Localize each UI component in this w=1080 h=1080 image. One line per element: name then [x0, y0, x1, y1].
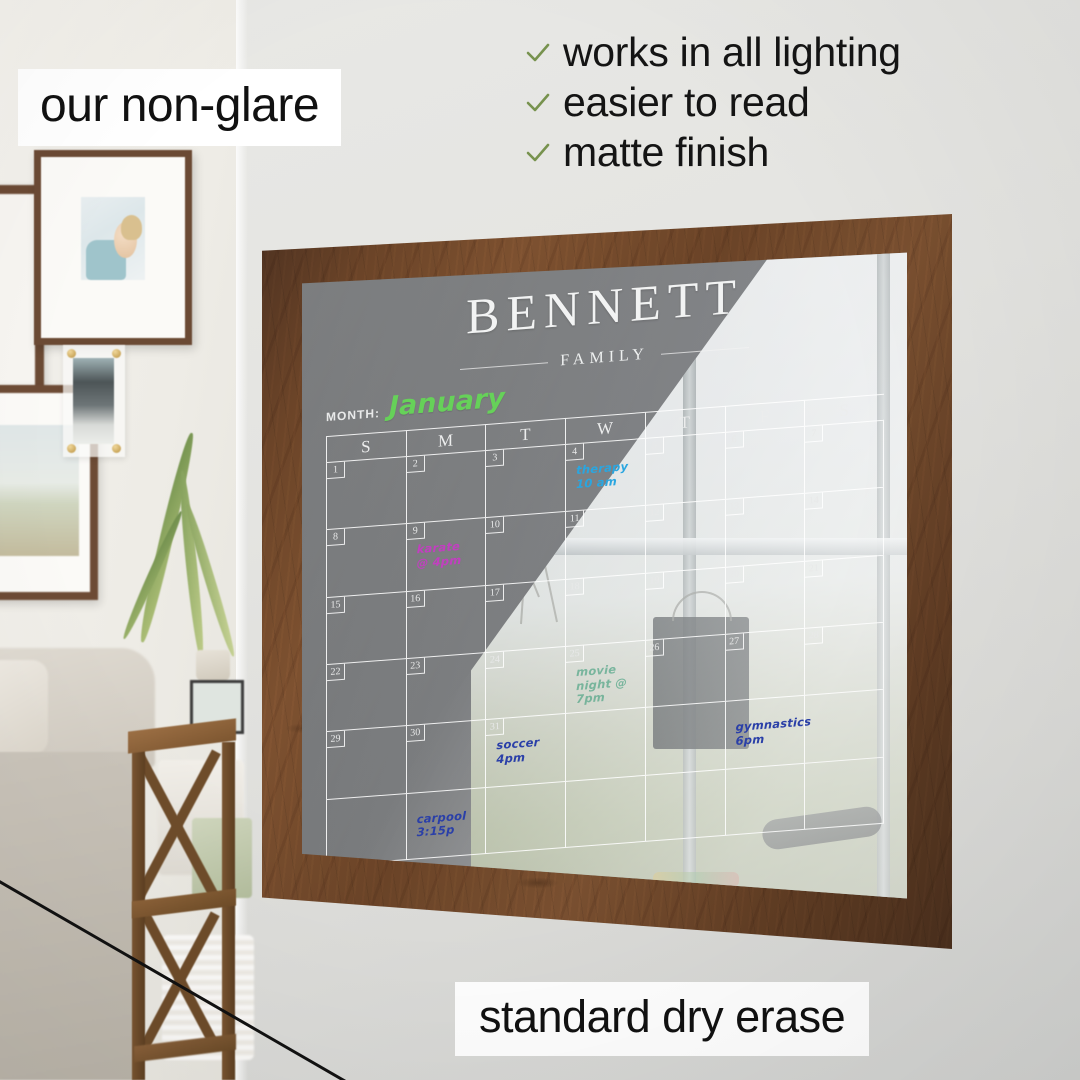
month-field-row: MONTH: January	[326, 387, 505, 425]
calendar-event-handwriting: carpool 3:15p	[417, 808, 482, 840]
board-printed-content: BENNETT FAMILY MONTH: January SMTWTFS123…	[302, 250, 907, 905]
calendar-date-number: 28	[805, 627, 823, 644]
calendar-day-cell[interactable]: 24	[485, 646, 565, 719]
calendar-date-number: 21	[805, 560, 823, 577]
family-subtitle: FAMILY	[560, 346, 649, 371]
calendar-date-number: 15	[327, 596, 345, 613]
calendar-day-cell[interactable]: 29	[326, 725, 406, 798]
calendar-day-cell[interactable]	[725, 762, 805, 835]
calendar-day-cell[interactable]: 27	[725, 628, 805, 701]
check-icon	[525, 140, 551, 166]
checklist-item-label: easier to read	[563, 80, 810, 126]
calendar-day-cell[interactable]: 31soccer 4pm	[485, 713, 565, 786]
calendar-day-cell[interactable]: 13	[725, 493, 805, 566]
month-value-handwriting: January	[389, 387, 505, 420]
check-icon	[525, 40, 551, 66]
calendar-day-cell[interactable]: 23	[406, 652, 486, 725]
calendar-date-number: 25	[566, 646, 584, 663]
calendar-day-cell[interactable]	[565, 775, 645, 848]
calendar-day-cell[interactable]: 8	[326, 523, 406, 596]
board-writing-surface: BENNETT FAMILY MONTH: January SMTWTFS123…	[302, 250, 907, 905]
calendar-day-cell[interactable]	[804, 689, 884, 762]
product-marketing-image: BENNETT FAMILY MONTH: January SMTWTFS123…	[0, 0, 1080, 1080]
feature-checklist: works in all lightingeasier to readmatte…	[525, 30, 1070, 180]
calendar-day-cell[interactable]: 14	[804, 487, 884, 560]
checklist-item: easier to read	[525, 80, 1070, 126]
calendar-day-cell[interactable]: 25movie night @ 7pm	[565, 640, 645, 713]
standard-dry-erase-banner-label: standard dry erase	[479, 991, 845, 1043]
non-glare-banner: our non-glare	[18, 69, 341, 146]
calendar-date-number: 7	[805, 425, 823, 442]
calendar-date-number: 2	[407, 456, 425, 473]
calendar-date-number: 3	[486, 450, 504, 467]
calendar-date-number: 17	[486, 584, 504, 601]
calendar-day-cell[interactable]: carpool 3:15p	[406, 787, 486, 860]
calendar-date-number: 14	[805, 493, 823, 510]
divider-line-right	[661, 347, 749, 355]
calendar-date-number: 12	[646, 505, 664, 522]
calendar-date-number: 6	[726, 431, 744, 448]
calendar-event-handwriting: therapy 10 am	[576, 459, 641, 491]
calendar-date-number: 30	[407, 725, 425, 742]
calendar-day-cell[interactable]: 15	[326, 591, 406, 664]
calendar-day-cell[interactable]: 2	[406, 450, 486, 523]
calendar-date-number: 11	[566, 511, 584, 528]
calendar-day-cell[interactable]	[645, 701, 725, 774]
calendar-date-number: 9	[407, 523, 425, 540]
checklist-item: matte finish	[525, 130, 1070, 176]
calendar-day-cell[interactable]: 10	[485, 511, 565, 584]
calendar-date-number: 18	[566, 578, 584, 595]
calendar-date-number: 5	[646, 437, 664, 454]
calendar-day-cell[interactable]: 16	[406, 585, 486, 658]
calendar-day-cell[interactable]	[485, 781, 565, 854]
calendar-day-cell[interactable]: 20	[725, 560, 805, 633]
calendar-event-handwriting: movie night @ 7pm	[576, 661, 641, 707]
calendar-day-cell[interactable]: 22	[326, 658, 406, 731]
calendar-event-handwriting: gymnastics 6pm	[736, 716, 801, 748]
calendar-day-cell[interactable]: 5	[645, 432, 725, 505]
calendar-day-cell[interactable]: 21	[804, 554, 884, 627]
divider-line-left	[460, 362, 548, 370]
checklist-item: works in all lighting	[525, 30, 1070, 76]
calendar-day-cell[interactable]: 4therapy 10 am	[565, 438, 645, 511]
calendar-date-number: 20	[726, 566, 744, 583]
calendar-date-number: 22	[327, 664, 345, 681]
calendar-date-number: 23	[407, 658, 425, 675]
calendar-day-cell[interactable]: 19	[645, 567, 725, 640]
calendar-date-number: 16	[407, 590, 425, 607]
calendar-day-cell[interactable]: 9karate @ 4pm	[406, 517, 486, 590]
calendar-day-cell[interactable]: 26	[645, 634, 725, 707]
calendar-date-number: 4	[566, 444, 584, 461]
calendar-day-cell[interactable]: 1	[326, 456, 406, 529]
calendar-event-handwriting: soccer 4pm	[496, 735, 561, 767]
calendar-day-cell[interactable]: 28	[804, 622, 884, 695]
calendar-day-cell[interactable]	[804, 756, 884, 829]
calendar-day-cell[interactable]: 18	[565, 573, 645, 646]
calendar-day-cell[interactable]	[326, 793, 406, 866]
calendar-date-number: 1	[327, 462, 345, 479]
calendar-day-cell[interactable]: 6	[725, 426, 805, 499]
calendar-day-cell[interactable]: 12	[645, 499, 725, 572]
calendar-day-cell[interactable]: 3	[485, 444, 565, 517]
calendar-date-number: 31	[486, 719, 504, 736]
checklist-item-label: matte finish	[563, 130, 769, 176]
calendar-day-cell[interactable]: 30	[406, 719, 486, 792]
checklist-item-label: works in all lighting	[563, 30, 901, 76]
calendar-date-number: 13	[726, 499, 744, 516]
calendar-date-number: 19	[646, 572, 664, 589]
calendar-date-number: 29	[327, 731, 345, 748]
calendar-event-handwriting: karate @ 4pm	[417, 539, 482, 571]
check-icon	[525, 90, 551, 116]
calendar-date-number: 24	[486, 652, 504, 669]
calendar-day-cell[interactable]: gymnastics 6pm	[725, 695, 805, 768]
standard-dry-erase-banner: standard dry erase	[455, 982, 869, 1056]
calendar-day-cell[interactable]	[645, 769, 725, 842]
calendar-date-number: 26	[646, 639, 664, 656]
calendar-date-number: 8	[327, 529, 345, 546]
calendar-day-cell[interactable]	[565, 707, 645, 780]
calendar-grid: SMTWTFS1234therapy 10 am56789karate @ 4p…	[326, 394, 884, 866]
calendar-day-cell[interactable]: 17	[485, 579, 565, 652]
calendar-date-number: 27	[726, 633, 744, 650]
calendar-day-cell[interactable]: 11	[565, 505, 645, 578]
calendar-date-number: 10	[486, 517, 504, 534]
month-label: MONTH:	[326, 406, 380, 424]
calendar-day-cell[interactable]: 7	[804, 420, 884, 493]
non-glare-banner-label: our non-glare	[40, 78, 319, 133]
